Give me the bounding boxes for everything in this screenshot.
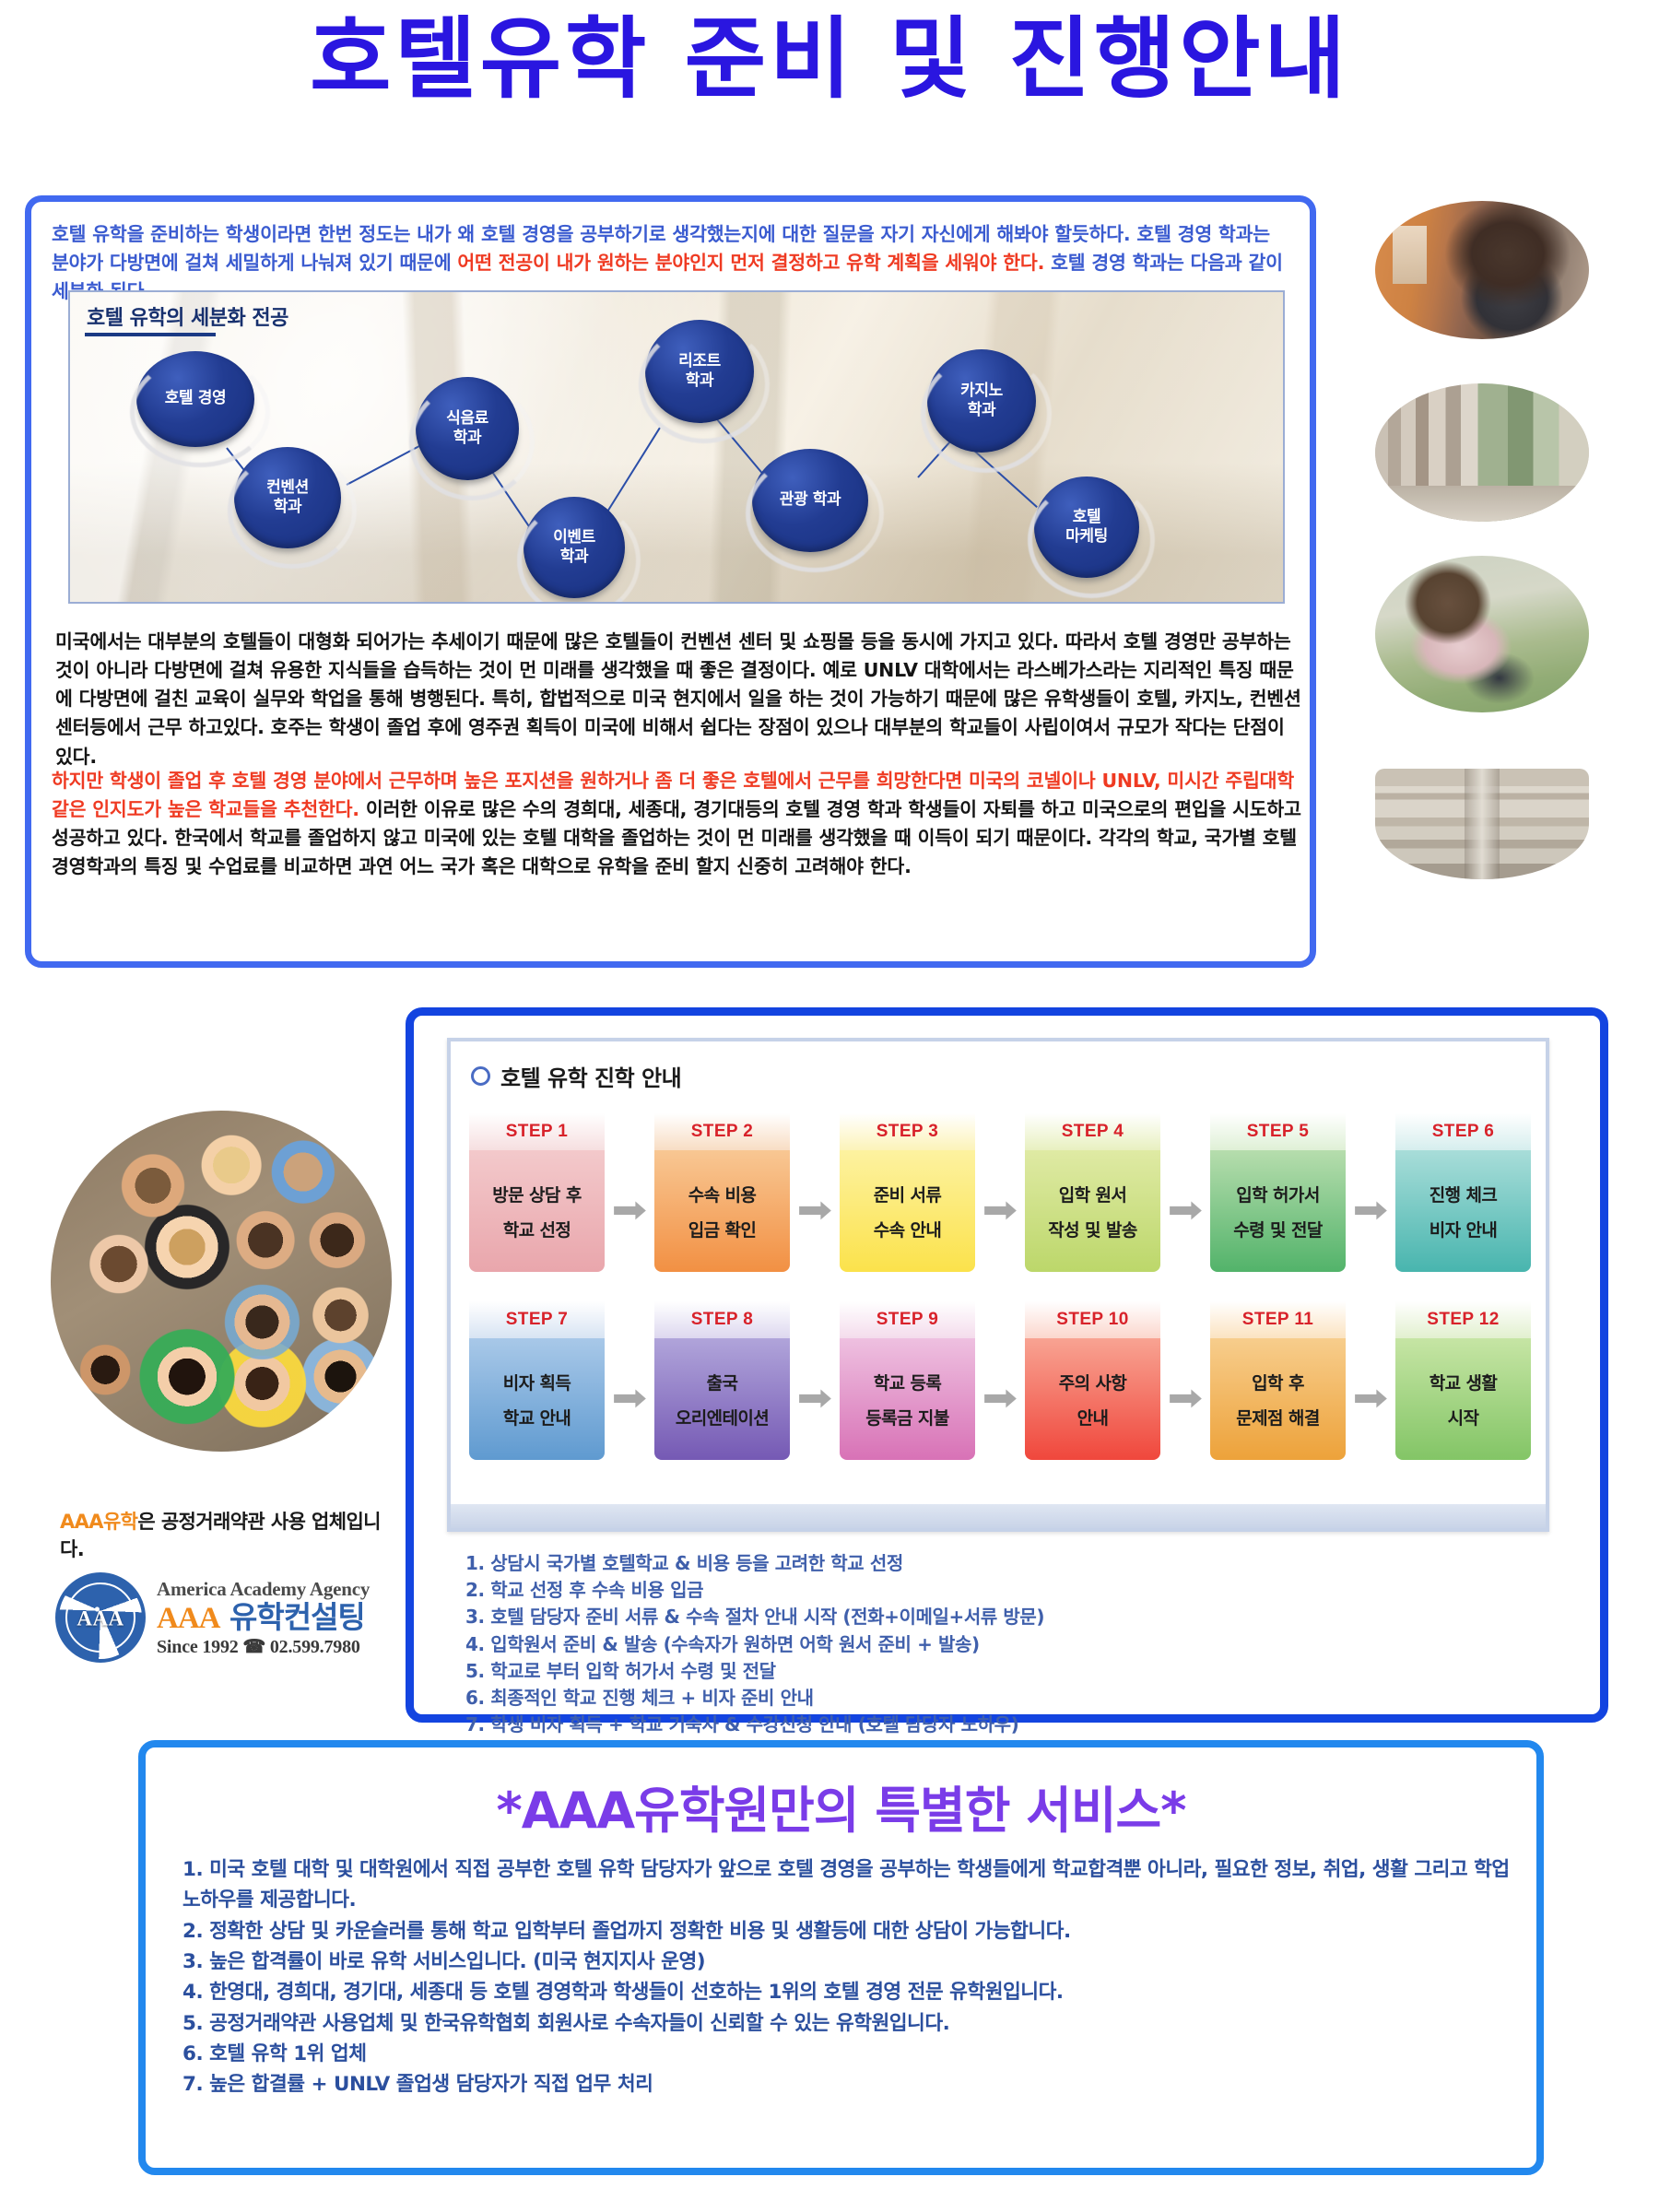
arrow-glyph: ➡ [982, 1192, 1018, 1229]
flow-step-5: STEP 5 입학 허가서 수령 및 전달 [1210, 1113, 1346, 1272]
photo-image [1375, 201, 1589, 339]
flow-row-1: STEP 1 방문 상담 후 학교 선정 ➡ STEP 2 수속 비용 입금 확… [469, 1113, 1531, 1272]
step-line-1: 준비 서류 [874, 1182, 942, 1206]
fair-trade-notice: AAA유학은 공정거래약관 사용 업체입니다. [60, 1507, 401, 1562]
process-note-item: 6. 최종적인 학교 진행 체크 + 비자 준비 안내 [465, 1685, 1544, 1712]
diagram-title: 호텔 유학의 세분화 전공 [87, 301, 288, 331]
service-item: 5. 공정거래약관 사용업체 및 한국유학협회 회원사로 수속자들이 신뢰할 수… [182, 2008, 1510, 2039]
services-list: 1. 미국 호텔 대학 및 대학원에서 직접 공부한 호텔 유학 담당자가 앞으… [182, 1854, 1510, 2100]
step-line-1: 수속 비용 [688, 1182, 757, 1206]
intro-panel: 호텔 유학을 준비하는 학생이라면 한번 정도는 내가 왜 호텔 경영을 공부하… [25, 195, 1316, 968]
fair-trade-brand: AAA유학 [60, 1511, 137, 1533]
flow-heading-label: 호텔 유학 진학 안내 [500, 1060, 681, 1092]
step-number: STEP 11 [1210, 1301, 1346, 1338]
arrow-glyph: ➡ [1168, 1380, 1204, 1417]
step-line-1: 학교 생활 [1430, 1370, 1498, 1394]
node-label: 리조트 학과 [678, 352, 721, 392]
flow-heading: 호텔 유학 진학 안내 [471, 1060, 681, 1092]
diagram-node-convention: 컨벤션 학과 [234, 447, 341, 548]
step-line-1: 입학 허가서 [1236, 1182, 1319, 1206]
logo-brand-aaa: AAA [157, 1602, 220, 1635]
poster-page: 호텔유학 준비 및 진행안내 호텔 유학을 준비하는 학생이라면 한번 정도는 … [0, 0, 1659, 2212]
process-panel: 호텔 유학 진학 안내 STEP 1 방문 상담 후 학교 선정 ➡ STEP … [406, 1007, 1608, 1723]
logo-line-since-phone: Since 1992 ☎ 02.599.7980 [157, 1635, 370, 1658]
arrow-right-icon: ➡ [605, 1301, 654, 1460]
flow-step-9: STEP 9 학교 등록 등록금 지불 [840, 1301, 975, 1460]
intro-text-highlight: 어떤 전공이 내가 원하는 분야인지 먼저 결정하고 유학 계획을 세워야 한다… [457, 252, 1044, 274]
photo-image [51, 1111, 392, 1452]
service-item: 6. 호텔 유학 1위 업체 [182, 2039, 1510, 2069]
step-line-2: 시작 [1448, 1405, 1479, 1430]
step-body: 방문 상담 후 학교 선정 [469, 1150, 605, 1272]
flow-chart: 호텔 유학 진학 안내 STEP 1 방문 상담 후 학교 선정 ➡ STEP … [447, 1038, 1549, 1532]
globe-icon: AAA [55, 1572, 146, 1663]
service-item: 2. 정확한 상담 및 카운슬러를 통해 학교 입학부터 졸업까지 정확한 비용… [182, 1916, 1510, 1947]
node-label: 호텔 경영 [165, 389, 226, 408]
page-title: 호텔유학 준비 및 진행안내 [0, 13, 1659, 106]
student-portrait-photo [1375, 201, 1589, 339]
step-line-1: 진행 체크 [1430, 1182, 1498, 1206]
logo-wordmark: America Academy Agency AAA 유학컨설팅 Since 1… [157, 1578, 370, 1658]
step-line-2: 수속 안내 [874, 1217, 942, 1241]
service-item: 7. 높은 합결률 + UNLV 졸업생 담당자가 직접 업무 처리 [182, 2069, 1510, 2100]
process-note-item: 4. 입학원서 준비 & 발송 (수속자가 원하면 어학 원서 준비 + 발송) [465, 1631, 1544, 1658]
arrow-right-icon: ➡ [790, 1301, 840, 1460]
arrow-glyph: ➡ [797, 1380, 833, 1417]
step-number: STEP 5 [1210, 1113, 1346, 1150]
arrow-right-icon: ➡ [1346, 1113, 1395, 1272]
flow-step-3: STEP 3 준비 서류 수속 안내 [840, 1113, 975, 1272]
node-label: 카지노 학과 [960, 382, 1003, 421]
flow-step-10: STEP 10 주의 사항 안내 [1025, 1301, 1160, 1460]
arrow-glyph: ➡ [982, 1380, 1018, 1417]
services-panel: *AAA유학원만의 특별한 서비스* 1. 미국 호텔 대학 및 대학원에서 직… [138, 1740, 1544, 2175]
node-label: 호텔 마케팅 [1065, 508, 1108, 547]
step-body: 학교 등록 등록금 지불 [840, 1338, 975, 1460]
service-item: 4. 한영대, 경희대, 경기대, 세종대 등 호텔 경영학과 학생들이 선호하… [182, 1977, 1510, 2007]
step-line-2: 수령 및 전달 [1233, 1217, 1322, 1241]
node-label: 컨벤션 학과 [266, 478, 309, 518]
step-line-2: 안내 [1077, 1405, 1109, 1430]
step-line-1: 비자 획득 [503, 1370, 571, 1394]
step-body: 수속 비용 입금 확인 [654, 1150, 790, 1272]
step-body: 출국 오리엔테이션 [654, 1338, 790, 1460]
flow-step-2: STEP 2 수속 비용 입금 확인 [654, 1113, 790, 1272]
arrow-right-icon: ➡ [790, 1113, 840, 1272]
flow-footer-bar [451, 1504, 1546, 1528]
step-line-1: 학교 등록 [874, 1370, 942, 1394]
arrow-right-icon: ➡ [1160, 1113, 1210, 1272]
step-line-1: 출국 [707, 1370, 738, 1394]
arrow-glyph: ➡ [1353, 1380, 1389, 1417]
arrow-right-icon: ➡ [975, 1301, 1025, 1460]
step-number: STEP 7 [469, 1301, 605, 1338]
step-number: STEP 9 [840, 1301, 975, 1338]
circle-bullet-icon [471, 1066, 490, 1086]
service-item: 3. 높은 합격률이 바로 유학 서비스입니다. (미국 현지지사 운영) [182, 1947, 1510, 1977]
diverse-students-group-photo [51, 1111, 392, 1452]
flow-step-4: STEP 4 입학 원서 작성 및 발송 [1025, 1113, 1160, 1272]
diagram-node-hotel-management: 호텔 경영 [136, 351, 254, 447]
process-note-item: 5. 학교로 부터 입학 허가서 수령 및 전달 [465, 1658, 1544, 1685]
arrow-glyph: ➡ [1353, 1192, 1389, 1229]
diagram-node-event: 이벤트 학과 [524, 497, 625, 598]
arrow-glyph: ➡ [612, 1380, 648, 1417]
step-line-1: 입학 원서 [1059, 1182, 1127, 1206]
body-paragraph-1: 미국에서는 대부분의 호텔들이 대형화 되어가는 추세이기 때문에 많은 호텔들… [55, 628, 1305, 771]
arrow-glyph: ➡ [797, 1192, 833, 1229]
logo-brand-korean: 유학컨설팅 [220, 1599, 365, 1635]
photo-image [1375, 556, 1589, 712]
service-item: 1. 미국 호텔 대학 및 대학원에서 직접 공부한 호텔 유학 담당자가 앞으… [182, 1854, 1510, 1916]
flow-step-12: STEP 12 학교 생활 시작 [1395, 1301, 1531, 1460]
arrow-glyph: ➡ [1168, 1192, 1204, 1229]
arrow-right-icon: ➡ [605, 1113, 654, 1272]
arrow-right-icon: ➡ [1346, 1301, 1395, 1460]
process-note-item: 1. 상담시 국가별 호텔학교 & 비용 등을 고려한 학교 선정 [465, 1550, 1544, 1577]
step-number: STEP 1 [469, 1113, 605, 1150]
node-label: 관광 학과 [780, 490, 841, 510]
step-line-2: 비자 안내 [1430, 1217, 1498, 1241]
step-number: STEP 8 [654, 1301, 790, 1338]
diagram-title-underline [85, 333, 216, 336]
process-note-item: 7. 학생 비자 획득 + 학교 기숙사 & 수강신청 안내 (호텔 담당자 노… [465, 1712, 1544, 1738]
diagram-node-casino: 카지노 학과 [927, 349, 1036, 453]
step-line-2: 학교 선정 [503, 1217, 571, 1241]
arrow-right-icon: ➡ [1160, 1301, 1210, 1460]
step-number: STEP 6 [1395, 1113, 1531, 1150]
diagram-node-resort: 리조트 학과 [645, 320, 754, 423]
step-line-1: 입학 후 [1252, 1370, 1304, 1394]
step-body: 진행 체크 비자 안내 [1395, 1150, 1531, 1272]
step-number: STEP 2 [654, 1113, 790, 1150]
process-note-item: 3. 호텔 담당자 준비 서류 & 수속 절차 안내 시작 (전화+이메일+서류… [465, 1604, 1544, 1630]
photo-image [1375, 383, 1589, 522]
photo-image [1375, 769, 1589, 879]
step-line-2: 학교 안내 [503, 1405, 571, 1430]
step-body: 학교 생활 시작 [1395, 1338, 1531, 1460]
arrow-glyph: ➡ [612, 1192, 648, 1229]
step-body: 준비 서류 수속 안내 [840, 1150, 975, 1272]
step-body: 입학 후 문제점 해결 [1210, 1338, 1346, 1460]
process-note-item: 2. 학교 선정 후 수속 비용 입금 [465, 1577, 1544, 1604]
student-reading-photo [1375, 556, 1589, 712]
step-body: 입학 허가서 수령 및 전달 [1210, 1150, 1346, 1272]
diagram-node-tourism: 관광 학과 [752, 449, 868, 552]
step-line-1: 방문 상담 후 [492, 1182, 581, 1206]
flow-row-2: STEP 7 비자 획득 학교 안내 ➡ STEP 8 출국 오리엔테이션 ➡ [469, 1301, 1531, 1460]
flow-step-7: STEP 7 비자 획득 학교 안내 [469, 1301, 605, 1460]
step-number: STEP 4 [1025, 1113, 1160, 1150]
flow-step-6: STEP 6 진행 체크 비자 안내 [1395, 1113, 1531, 1272]
step-body: 비자 획득 학교 안내 [469, 1338, 605, 1460]
arrow-right-icon: ➡ [975, 1113, 1025, 1272]
aaa-logo: AAA America Academy Agency AAA 유학컨설팅 Sin… [55, 1567, 415, 1668]
step-number: STEP 12 [1395, 1301, 1531, 1338]
campus-facade-photo [1375, 769, 1589, 879]
step-line-2: 입금 확인 [688, 1217, 757, 1241]
logo-line-brand: AAA 유학컨설팅 [157, 1602, 370, 1634]
step-line-2: 문제점 해결 [1236, 1405, 1319, 1430]
step-line-1: 주의 사항 [1059, 1370, 1127, 1394]
logo-mark-text: AAA [59, 1607, 142, 1631]
step-line-2: 등록금 지불 [865, 1405, 948, 1430]
services-title: *AAA유학원만의 특별한 서비스* [146, 1770, 1536, 1842]
body-paragraph-2: 하지만 학생이 졸업 후 호텔 경영 분야에서 근무하며 높은 포지션을 원하거… [52, 767, 1301, 882]
node-label: 식음료 학과 [446, 409, 488, 449]
step-body: 주의 사항 안내 [1025, 1338, 1160, 1460]
majors-diagram: 호텔 유학의 세분화 전공 호텔 경영 컨벤션 학과 식음료 학과 이벤트 학과 [68, 290, 1285, 604]
step-number: STEP 10 [1025, 1301, 1160, 1338]
flow-step-8: STEP 8 출국 오리엔테이션 [654, 1301, 790, 1460]
step-line-2: 오리엔테이션 [676, 1405, 769, 1430]
diagram-node-food-beverage: 식음료 학과 [416, 377, 519, 480]
step-line-2: 작성 및 발송 [1048, 1217, 1136, 1241]
diagram-node-hotel-marketing: 호텔 마케팅 [1034, 477, 1139, 578]
flow-step-1: STEP 1 방문 상담 후 학교 선정 [469, 1113, 605, 1272]
step-body: 입학 원서 작성 및 발송 [1025, 1150, 1160, 1272]
campus-building-photo [1375, 383, 1589, 522]
logo-line-english: America Academy Agency [157, 1578, 370, 1601]
flow-step-11: STEP 11 입학 후 문제점 해결 [1210, 1301, 1346, 1460]
step-number: STEP 3 [840, 1113, 975, 1150]
node-label: 이벤트 학과 [553, 528, 595, 568]
